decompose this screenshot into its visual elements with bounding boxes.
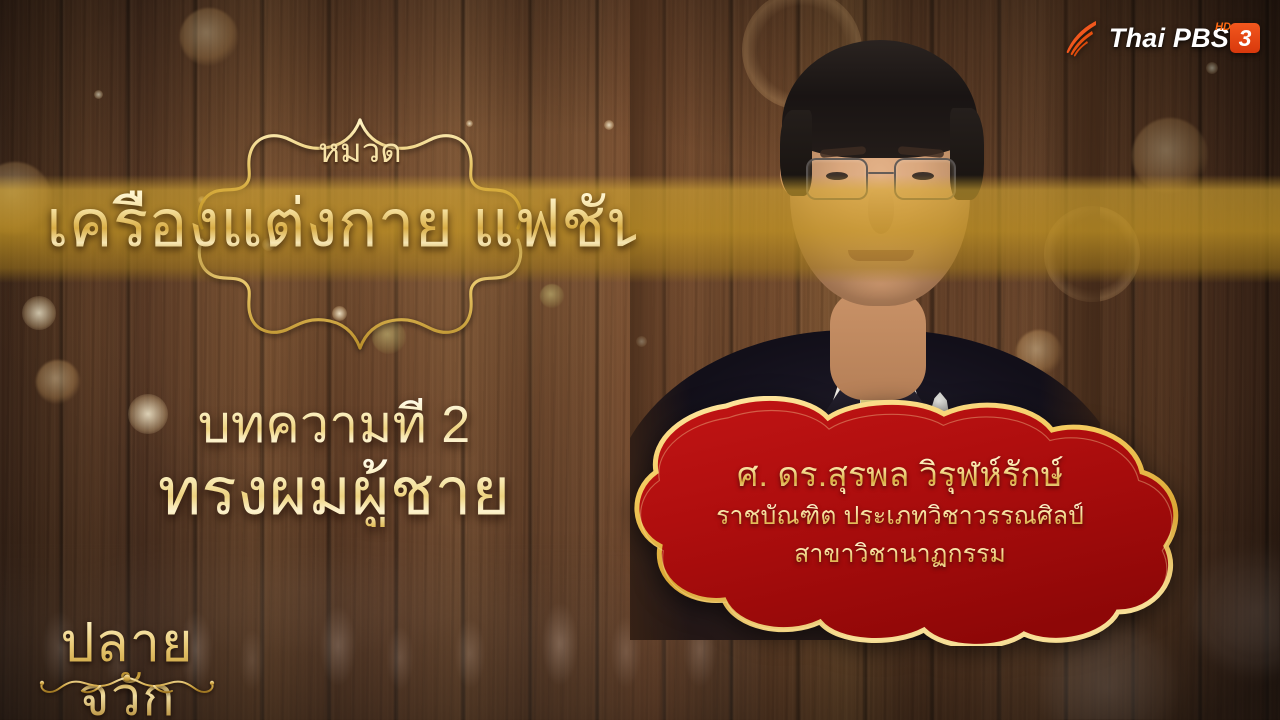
channel-logo: Thai PBS HD 3: [1062, 18, 1260, 58]
broadcast-title-card: Thai PBS HD 3 หมวด: [0, 0, 1280, 720]
speaker-title-line-2: สาขาวิชานาฏกรรม: [676, 538, 1124, 570]
speaker-name: ศ. ดร.สุรพล วิรุฬห์รักษ์: [676, 456, 1124, 494]
thai-pbs-swoosh-icon: [1062, 18, 1102, 58]
channel-wordmark: Thai PBS: [1109, 25, 1229, 52]
headline-line-2: ทรงผมผู้ชาย: [24, 457, 644, 527]
speaker-title-line-1: ราชบัณฑิต ประเภทวิชาวรรณศิลป์: [676, 500, 1124, 532]
speaker-name-banner: ศ. ดร.สุรพล วิรุฬห์รักษ์ ราชบัณฑิต ประเภ…: [614, 396, 1186, 646]
headline-block: บทความที่ 2 ทรงผมผู้ชาย: [24, 398, 644, 527]
headline-line-1: บทความที่ 2: [24, 398, 644, 453]
channel-number-badge: 3: [1230, 23, 1260, 53]
gold-flourish-ornament-icon: [30, 672, 224, 702]
program-title: ปลายจวัก: [14, 616, 240, 720]
program-logo: ปลายจวัก: [14, 614, 240, 704]
hd-badge: HD: [1215, 22, 1231, 33]
category-title: เครื่องแต่งกาย แฟชั่น: [46, 190, 636, 256]
category-label: หมวด: [110, 134, 610, 167]
